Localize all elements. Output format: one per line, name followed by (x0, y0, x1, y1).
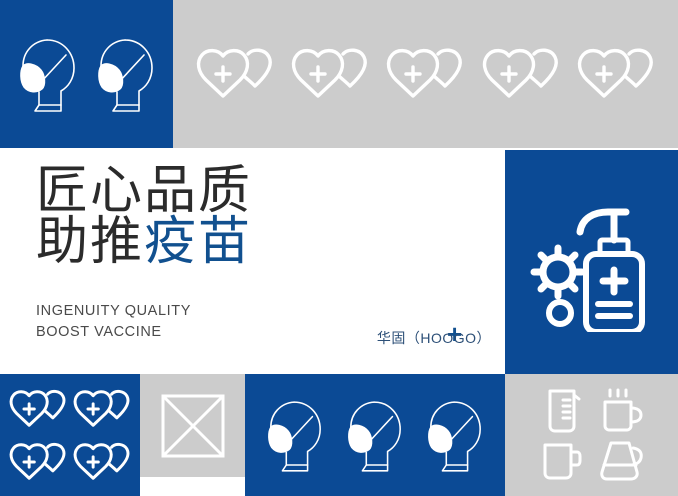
masked-head-icon (95, 35, 157, 113)
double-heart-plus-icon (7, 441, 69, 483)
top-hearts-panel (173, 0, 678, 148)
headline-panel: 匠心品质 助推疫苗 INGENUITY QUALITY BOOST VACCIN… (0, 150, 503, 356)
double-heart-icon-grid (0, 374, 140, 496)
subtitle-block: INGENUITY QUALITY BOOST VACCINE (36, 301, 191, 343)
image-placeholder-panel (140, 374, 245, 477)
brand-name: 华固（HOOGO） (377, 328, 491, 348)
masked-head-icon (425, 397, 485, 473)
masked-head-icon (345, 397, 405, 473)
masked-head-icon-row (245, 374, 505, 496)
double-heart-plus-icon (383, 46, 467, 102)
headline-line-1: 匠心品质 (36, 166, 252, 217)
bottom-hearts-panel (0, 374, 140, 496)
broken-image-placeholder-icon (159, 392, 227, 460)
measuring-beaker-icon (541, 386, 583, 434)
mug-icon (538, 439, 586, 483)
double-heart-plus-icon (574, 46, 658, 102)
subtitle-line-1: INGENUITY QUALITY (36, 301, 191, 322)
masked-head-icon-row (0, 0, 173, 148)
bottom-masked-person-panel (245, 374, 505, 496)
sanitizer-panel (505, 150, 678, 374)
bottom-containers-panel (505, 374, 678, 496)
image-placeholder-wrap (140, 374, 245, 477)
double-heart-plus-icon (479, 46, 563, 102)
masked-head-icon (17, 35, 79, 113)
poster-canvas: 匠心品质 助推疫苗 INGENUITY QUALITY BOOST VACCIN… (0, 0, 678, 496)
top-masked-person-panel (0, 0, 173, 148)
double-heart-plus-icon (7, 388, 69, 430)
hand-sanitizer-bottle-icon (522, 192, 662, 332)
steaming-mug-icon (597, 386, 645, 434)
headline-line-2-accent: 疫苗 (144, 213, 252, 271)
container-icon-grid (505, 374, 678, 496)
headline-line-2: 助推疫苗 (36, 217, 252, 268)
masked-head-icon (265, 397, 325, 473)
double-heart-plus-icon (71, 441, 133, 483)
subtitle-line-2: BOOST VACCINE (36, 322, 191, 343)
carafe-icon (595, 438, 647, 484)
double-heart-icon-row (173, 0, 678, 148)
double-heart-plus-icon (71, 388, 133, 430)
headline-line-2-plain: 助推 (36, 213, 144, 271)
double-heart-plus-icon (193, 46, 277, 102)
headline-block: 匠心品质 助推疫苗 (36, 166, 252, 268)
sanitizer-icon-wrap (505, 150, 678, 374)
double-heart-plus-icon (288, 46, 372, 102)
